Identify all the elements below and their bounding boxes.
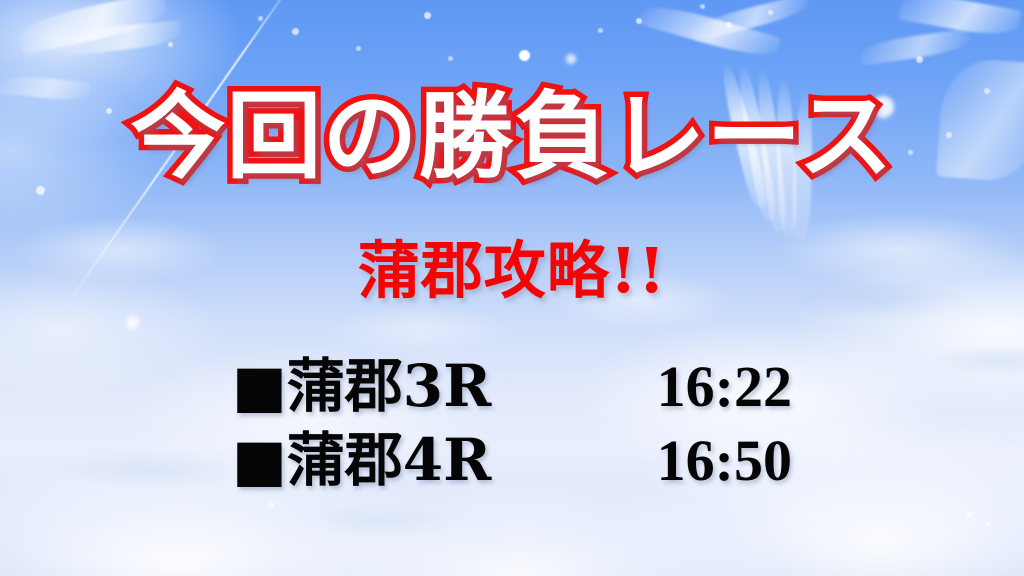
bokeh-dot <box>126 316 139 329</box>
race-time-label: 16:50 <box>657 426 792 496</box>
bokeh-dot <box>448 56 453 61</box>
list-item: ■蒲郡4R 16:50 <box>232 426 792 496</box>
race-list: ■蒲郡3R 16:22 ■蒲郡4R 16:50 <box>0 352 1024 495</box>
bokeh-dot <box>768 10 773 15</box>
bokeh-dot <box>566 54 576 64</box>
bokeh-dot <box>268 502 274 508</box>
bokeh-dot <box>598 28 603 33</box>
bokeh-dot <box>292 28 299 35</box>
slide-canvas: 今回の勝負レース 蒲郡攻略!! ■蒲郡3R 16:22 ■蒲郡4R 16:50 <box>0 0 1024 576</box>
bokeh-dot <box>986 522 991 527</box>
bokeh-dot <box>726 22 732 28</box>
bokeh-dot <box>700 4 705 9</box>
bokeh-dot <box>258 16 263 21</box>
bokeh-dot <box>916 56 923 63</box>
bokeh-dot <box>424 12 431 19</box>
bokeh-dot <box>168 42 173 47</box>
race-time-label: 16:22 <box>657 352 792 422</box>
race-venue-label: ■蒲郡3R <box>232 352 491 422</box>
page-title: 今回の勝負レース <box>0 86 1024 189</box>
bokeh-dot <box>966 512 972 518</box>
light-streak-node <box>519 50 530 61</box>
feather-wisp-icon <box>859 28 971 65</box>
bokeh-dot <box>356 46 361 51</box>
bokeh-dot <box>134 552 139 557</box>
list-item: ■蒲郡3R 16:22 <box>232 352 792 422</box>
race-venue-label: ■蒲郡4R <box>232 426 491 496</box>
bokeh-dot <box>636 18 642 24</box>
subtitle: 蒲郡攻略!! <box>0 238 1024 303</box>
